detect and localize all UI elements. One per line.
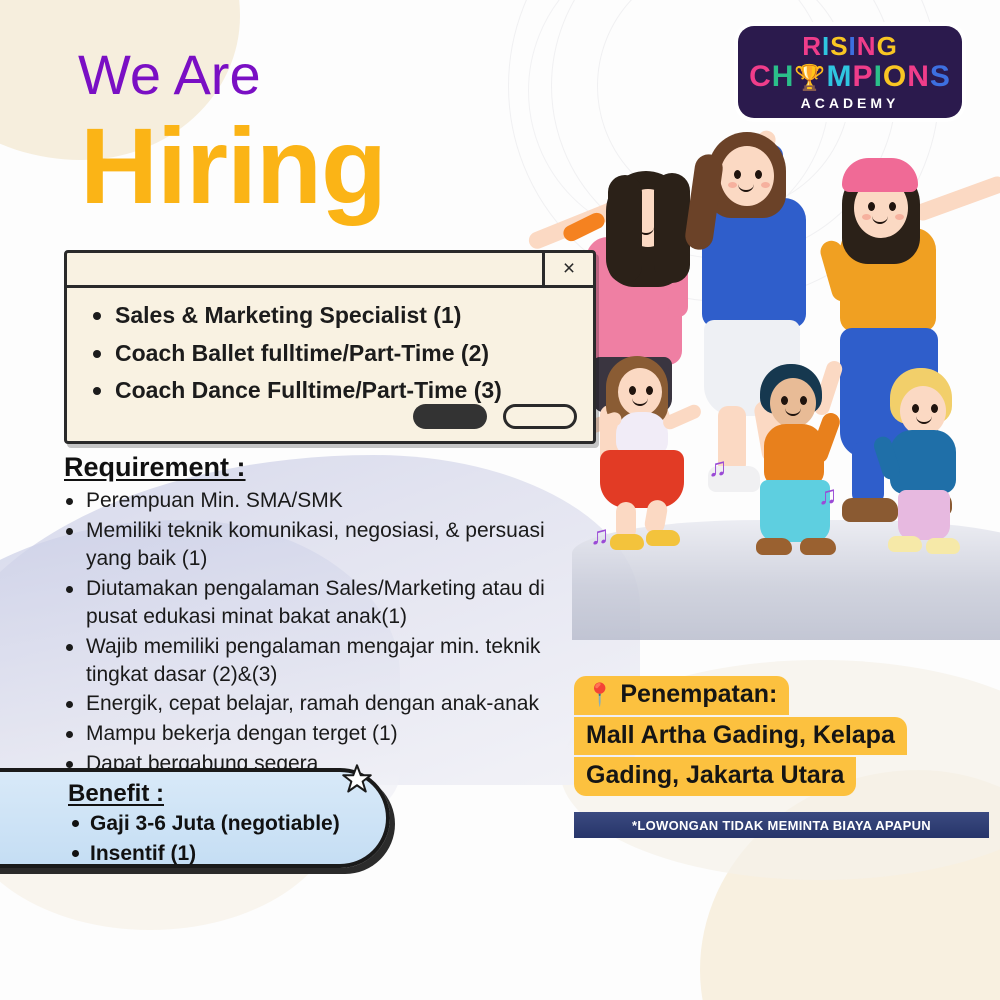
music-note-icon: ♫ [590, 520, 610, 551]
brand-logo: RISING CH🏆MPIONS ACADEMY [738, 26, 962, 118]
requirement-item: Memiliki teknik komunikasi, negosiasi, &… [64, 517, 584, 573]
logo-champions-text: CH🏆MPIONS [738, 62, 962, 92]
benefit-title: Benefit : [68, 780, 386, 808]
dancer-child-red-skirt [580, 352, 720, 542]
requirement-section: Requirement : Perempuan Min. SMA/SMK Mem… [64, 452, 584, 780]
placement-label: Penempatan: [620, 680, 777, 708]
job-list-item: Sales & Marketing Specialist (1) [89, 297, 579, 335]
placement-label-line: 📍 Penempatan: [574, 676, 789, 715]
benefit-panel: Benefit : Gaji 3-6 Juta (negotiable) Ins… [0, 768, 390, 868]
dancer-child-blond [864, 366, 1000, 562]
placement-address-line-2: Gading, Jakarta Utara [574, 757, 856, 796]
benefit-list: Gaji 3-6 Juta (negotiable) Insentif (1) [68, 809, 386, 869]
headline-we-are: We Are [78, 47, 261, 103]
requirement-item: Perempuan Min. SMA/SMK [64, 487, 584, 515]
job-listing-window: × Sales & Marketing Specialist (1) Coach… [64, 250, 596, 444]
requirement-item: Wajib memiliki pengalaman mengajar min. … [64, 633, 584, 689]
benefit-item: Gaji 3-6 Juta (negotiable) [68, 809, 386, 839]
notice-banner: *LOWONGAN TIDAK MEMINTA BIAYA APAPUN [574, 812, 989, 838]
requirement-item: Diutamakan pengalaman Sales/Marketing at… [64, 575, 584, 631]
job-list-item: Coach Ballet fulltime/Part-Time (2) [89, 335, 579, 373]
logo-rising-text: RISING [738, 33, 962, 59]
secondary-button[interactable] [503, 404, 577, 429]
music-note-icon: ♫ [708, 452, 728, 483]
job-list: Sales & Marketing Specialist (1) Coach B… [89, 297, 579, 410]
music-note-icon: ♫ [818, 480, 838, 511]
close-icon[interactable]: × [542, 253, 593, 285]
window-titlebar: × [67, 253, 593, 288]
dancer-child-orange-shirt [734, 358, 884, 558]
requirement-list: Perempuan Min. SMA/SMK Memiliki teknik k… [64, 487, 584, 778]
primary-button[interactable] [413, 404, 487, 429]
location-pin-icon: 📍 [586, 682, 613, 707]
trophy-icon: 🏆 [794, 66, 826, 91]
requirement-title: Requirement : [64, 452, 584, 483]
star-icon [342, 764, 372, 794]
requirement-item: Energik, cepat belajar, ramah dengan ana… [64, 690, 584, 718]
requirement-item: Mampu bekerja dengan terget (1) [64, 720, 584, 748]
poster-canvas: ♫ ♫ ♫ ♫ We Are Hiring RISING CH🏆MPIONS A… [0, 0, 1000, 1000]
window-buttons [413, 404, 577, 429]
benefit-item: Insentif (1) [68, 839, 386, 869]
logo-academy-text: ACADEMY [738, 95, 962, 111]
placement-address-line-1: Mall Artha Gading, Kelapa [574, 717, 907, 756]
headline-hiring: Hiring [80, 112, 386, 220]
placement-badge: 📍 Penempatan: Mall Artha Gading, Kelapa … [574, 676, 936, 798]
